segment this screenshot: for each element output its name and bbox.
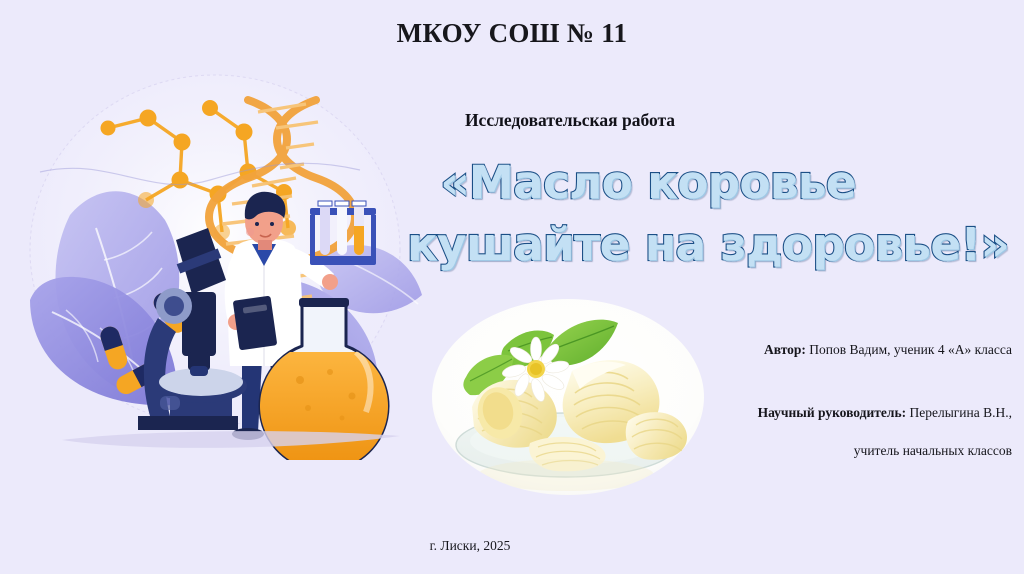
presentation-slide: МКОУ СОШ № 11 (0, 0, 1024, 574)
school-title: МКОУ СОШ № 11 (0, 18, 1024, 49)
work-type-label: Исследовательская работа (300, 110, 840, 131)
supervisor-line: Научный руководитель: Перелыгина В.Н., (620, 403, 1012, 422)
supervisor-value: Перелыгина В.Н., (909, 405, 1012, 420)
supervisor-label: Научный руководитель: (758, 405, 907, 420)
supervisor-position: учитель начальных классов (620, 441, 1012, 460)
title-line-1: «Масло коровье (352, 152, 1024, 214)
author-line: Автор: Попов Вадим, ученик 4 «А» класса (620, 340, 1012, 359)
title-line-2: кушайте на здоровье!» (352, 214, 1024, 276)
test-tube (335, 201, 349, 255)
plate-reflection (478, 459, 654, 491)
city-year: г. Лиски, 2025 (300, 538, 640, 554)
author-label: Автор: (764, 342, 806, 357)
credits-block: Автор: Попов Вадим, ученик 4 «А» класса … (620, 340, 1012, 460)
test-tube (318, 201, 332, 255)
author-value: Попов Вадим, ученик 4 «А» класса (809, 342, 1012, 357)
page-title: «Масло коровье кушайте на здоровье!» (352, 152, 1024, 276)
